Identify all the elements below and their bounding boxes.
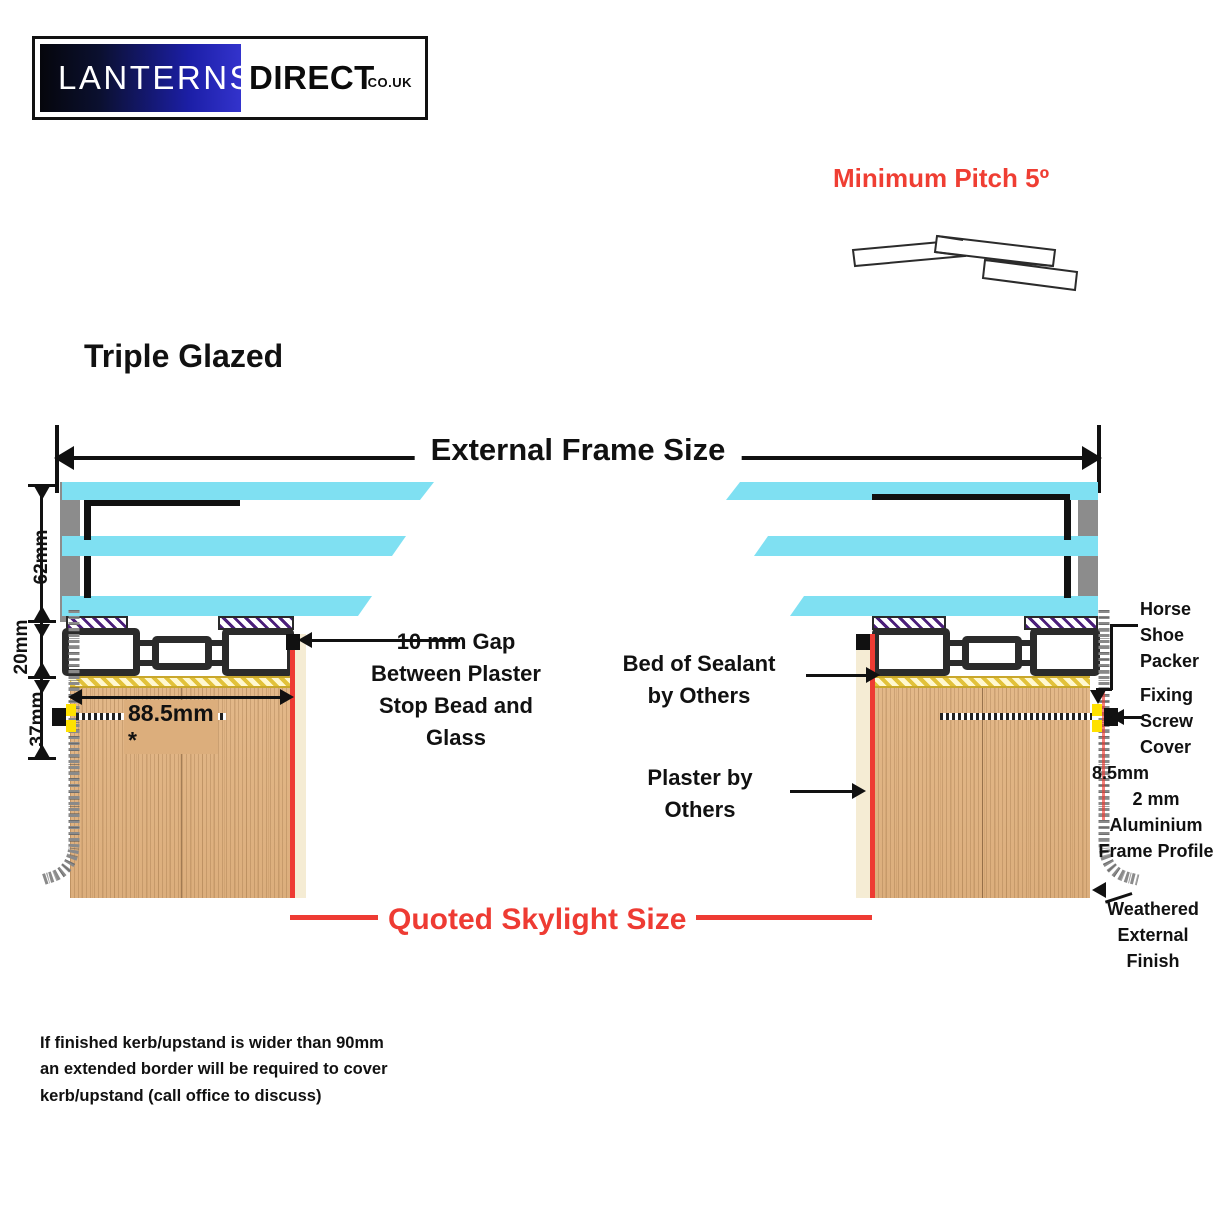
callout-gap-text: 10 mm Gap Between Plaster Stop Bead and …: [366, 626, 546, 754]
callout-fixing-screw-text: Fixing Screw Cover: [1140, 682, 1214, 760]
glass-spacer-top-right: [872, 494, 1070, 500]
callout-frame-profile-line1: 2 mm: [1098, 786, 1214, 812]
glass-pane-middle-right: [754, 536, 1098, 556]
footnote-line1: If finished kerb/upstand is wider than 9…: [40, 1030, 460, 1056]
alu-chamber-b-right: [962, 636, 1022, 670]
callout-plaster-line1: Plaster by: [610, 762, 790, 794]
callout-sealant-line2: by Others: [598, 680, 800, 712]
horse-shoe-packer-b-right: [1092, 720, 1102, 732]
alu-link-3-right: [1020, 640, 1034, 646]
fixing-screw-right: [940, 713, 1092, 720]
callout-frame-profile: 2 mm Aluminium Frame Profile: [1098, 786, 1214, 864]
callout-horse-shoe-line3: Packer: [1140, 648, 1214, 674]
callout-gap-line2: Between Plaster: [366, 658, 546, 690]
callout-weathered-text: Weathered External Finish: [1092, 896, 1214, 974]
quoted-skylight-size-label: Quoted Skylight Size: [378, 903, 696, 937]
alu-link-1-right: [950, 640, 964, 646]
glass-spacer-upright-b-right: [1064, 556, 1071, 598]
footnote: If finished kerb/upstand is wider than 9…: [40, 1030, 460, 1109]
alu-link-2-right: [950, 660, 964, 666]
footnote-line2: an extended border will be required to c…: [40, 1056, 460, 1082]
callout-fixing-screw-line2: Screw: [1140, 708, 1214, 734]
callout-plaster-text: Plaster by Others: [610, 762, 790, 826]
horse-shoe-packer-a-right: [1092, 704, 1102, 716]
callout-weathered-line2: External: [1092, 922, 1214, 948]
callout-frame-profile-line2: Aluminium: [1098, 812, 1214, 838]
callout-frame-profile-line3: Frame Profile: [1098, 838, 1214, 864]
callout-gap-line3: Stop Bead and: [366, 690, 546, 722]
callout-weathered-line1: Weathered: [1092, 896, 1214, 922]
callout-horse-shoe-text: Horse Shoe Packer: [1140, 596, 1214, 674]
callout-horse-shoe-line2: Shoe: [1140, 622, 1214, 648]
callout-gap-line1: 10 mm Gap: [366, 626, 546, 658]
alu-chamber-a-right: [872, 628, 950, 676]
callout-plaster-line2: Others: [610, 794, 790, 826]
alu-link-4-right: [1020, 660, 1034, 666]
dimension-8-5mm-label: 8.5mm: [1092, 760, 1172, 786]
callout-fixing-screw-line1: Fixing: [1140, 682, 1214, 708]
plaster-stop-bead-right: [856, 634, 870, 650]
callout-sealant-line1: Bed of Sealant: [598, 648, 800, 680]
callout-horse-shoe-line1: Horse: [1140, 596, 1214, 622]
sealant-bed-right: [874, 676, 1090, 688]
callout-gap-line4: Glass: [366, 722, 546, 754]
footnote-line3: kerb/upstand (call office to discuss): [40, 1083, 460, 1109]
glass-pane-inner-right: [790, 596, 1098, 616]
callout-fixing-screw-line3: Cover: [1140, 734, 1214, 760]
right-section-assembly: [0, 0, 1214, 960]
callout-weathered-line3: Finish: [1092, 948, 1214, 974]
glass-spacer-upright-a-right: [1064, 500, 1071, 540]
callout-sealant-text: Bed of Sealant by Others: [598, 648, 800, 712]
